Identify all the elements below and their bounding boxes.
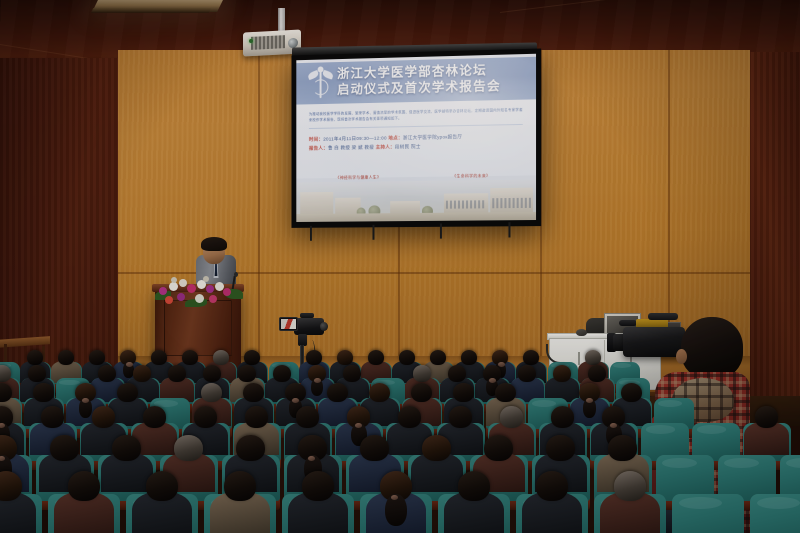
audience-member-head [337,350,353,365]
audience-member-head [546,435,574,461]
seat-highlight [757,497,800,509]
audience-member-head [608,435,636,461]
slide-body: 为推动我校医学学科的发展、繁荣学术、营造浓厚的学术氛围、促进医学交流，医学部特举… [296,99,536,178]
audience-member-head [27,350,43,365]
hair-tie [0,456,5,461]
computer-mouse-icon [576,329,587,336]
audience-member-head [588,365,606,382]
hair-tie [391,495,398,500]
audience-member-head [33,383,54,402]
cameraman-head [681,317,743,379]
projector-vent [251,35,285,50]
projection-screen: 浙江大学医学部杏林论坛 启动仪式及首次学术报告会 为推动我校医学学科的发展、繁荣… [296,54,536,222]
slide-title-band: 浙江大学医学部杏林论坛 启动仪式及首次学术报告会 [296,57,536,105]
host-label: 主持人： [376,144,395,149]
audience-member-head [203,365,221,382]
wall-panel-seam [258,50,260,390]
seat-highlight [786,458,800,468]
audience-member-head [327,383,348,402]
audience-member-head [194,406,218,428]
screen-support-brackets [302,222,537,244]
lcd-preview-image [281,319,296,329]
slide-meta: 时间：2011年4月11日09:30—12:00 地点：浙江大学医学院урок报… [309,131,523,153]
audience-member-head [585,350,601,365]
camcorder-lcd-screen [279,317,298,331]
slide-campus-photo [296,179,536,221]
audience-member-head [500,406,524,428]
audience-member-head [343,365,361,382]
cameraman-ear [676,349,687,364]
presenter-hair [201,237,227,251]
audience-member-head [174,435,202,461]
seat-highlight [613,363,631,368]
audience-member-head [398,406,422,428]
audience-member-head [614,471,647,501]
audience-member-head [151,350,167,365]
audience-member-head [449,406,473,428]
audience-member-head [117,383,138,402]
audience-member-head [112,435,140,461]
lecture-hall-photo: 浙江大学医学部杏林论坛 启动仪式及首次学术报告会 为推动我校医学学科的发展、繁荣… [0,0,800,533]
audience-member-head [621,383,642,402]
audience-member-head [360,435,388,461]
audience-member-head [50,435,78,461]
slide-title-line2: 启动仪式及首次学术报告会 [337,79,501,98]
ceiling-light-frame [91,8,211,13]
audience-member-head [536,471,569,501]
cabinet-handle[interactable] [578,352,580,365]
audience-member-head [551,406,575,428]
seat-highlight [662,458,697,468]
audience-member-head [448,365,466,382]
speaker-label: 报告人： [309,145,328,150]
audience-member-head [273,365,291,382]
projector-power-led [249,39,253,43]
audience-member-head [92,406,116,428]
place-label: 地点： [388,135,403,140]
seat-highlight [697,425,726,433]
theater-seat[interactable] [672,494,744,533]
seat-highlight [679,497,722,509]
audience-member-head [302,471,335,501]
audience-member-head [89,350,105,365]
camera-shotgun-mic [619,320,637,326]
camcorder-lens [320,322,328,331]
audience-member-head [236,435,264,461]
seat-highlight [646,425,675,433]
audience-member-head [495,383,516,402]
seat-cushion [750,494,800,533]
audience-member-head [201,383,222,402]
audience-member-head [238,365,256,382]
audience-member-head [430,350,446,365]
audience-member-head [243,383,264,402]
audience-member-head [68,471,101,501]
audience-member-head [244,350,260,365]
audience-member-head [553,365,571,382]
audience-member-head [368,350,384,365]
audience-member-head [755,406,779,428]
audience-member-head [413,365,431,382]
audience-member-head [458,471,491,501]
audience-member-head [306,350,322,365]
audience-member-head [369,383,390,402]
audience-member-head [453,383,474,402]
audience-member-head [523,350,539,365]
time-label: 时间： [309,136,323,141]
seat-highlight [59,380,79,386]
audience-member-head [28,365,46,382]
audience-member-head [143,406,167,428]
hair-tie [308,456,315,461]
slide-divider [309,124,523,129]
audience-member-head [41,406,65,428]
audience-member-head [484,435,512,461]
audience-member-head [146,471,179,501]
caduceus-icon [308,66,333,100]
audience-member-head [224,471,257,501]
audience-member-head [182,350,198,365]
audience-member-head [245,406,269,428]
audience-member-head [98,365,116,382]
speaker-value: 鲁 白 教授 梁 斌 教授 [328,144,374,150]
audience-member-head [518,365,536,382]
theater-seat[interactable] [750,494,800,533]
slide-paragraph: 为推动我校医学学科的发展、繁荣学术、营造浓厚的学术氛围、促进医学交流，医学部特举… [309,107,523,124]
audience-member-head [296,406,320,428]
seat-highlight [724,458,759,468]
audience-member-head [411,383,432,402]
time-value: 2011年4月11日09:30—12:00 [323,135,387,141]
audience-member-head [168,365,186,382]
flower-arrangement [151,275,247,309]
camera-carry-handle [648,313,678,320]
audience-member-head [422,435,450,461]
audience-member-head [213,350,229,365]
audience-member-head [461,350,477,365]
seat-highlight [532,400,556,407]
place-value: 浙江大学医学院урок报告厅 [403,134,462,140]
seat-highlight [658,400,682,407]
audience-member-head [399,350,415,365]
right-side-wall [742,52,800,402]
audience-member-head [58,350,74,365]
seat-cushion [672,494,744,533]
audience-member-head [133,365,151,382]
host-value: 段树民 院士 [395,144,421,149]
